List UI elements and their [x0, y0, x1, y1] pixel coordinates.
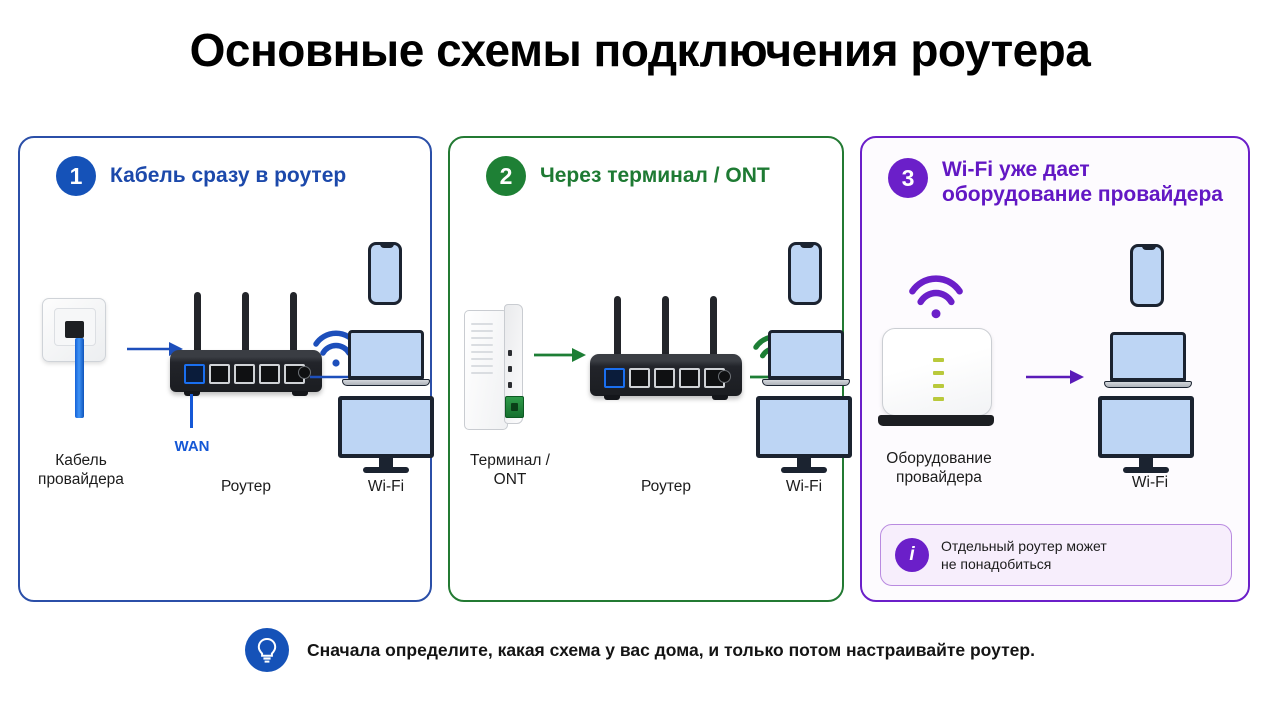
- lightbulb-icon: [245, 628, 289, 672]
- laptop-icon: [1104, 332, 1192, 388]
- footer-tip: Сначала определите, какая схема у вас до…: [0, 628, 1280, 672]
- tv-monitor-icon: [1098, 396, 1194, 473]
- laptop-icon: [342, 330, 430, 386]
- panel-3-source-label: Оборудование провайдера: [864, 450, 1014, 488]
- info-icon: i: [895, 538, 929, 572]
- page-title: Основные схемы подключения роутера: [0, 0, 1280, 73]
- router-icon: [590, 296, 742, 400]
- panel-3-scene: Оборудование провайдера Wi-Fi i Отдельны…: [862, 138, 1248, 600]
- panel-3-wifi-label: Wi-Fi: [1100, 474, 1200, 493]
- panel-2-source-label: Терминал / ONT: [450, 452, 570, 490]
- wan-pointer: [190, 394, 193, 428]
- footer-text: Сначала определите, какая схема у вас до…: [307, 640, 1035, 661]
- smartphone-icon: [368, 242, 402, 305]
- arrow-right-icon: [1024, 366, 1086, 388]
- info-note-text: Отдельный роутер может не понадобиться: [941, 537, 1107, 573]
- info-note: i Отдельный роутер может не понадобиться: [880, 524, 1232, 586]
- smartphone-icon: [788, 242, 822, 305]
- provider-gateway-icon: [878, 328, 994, 426]
- router-icon: [170, 292, 322, 396]
- arrow-right-icon: [532, 344, 588, 366]
- smartphone-icon: [1130, 244, 1164, 307]
- ethernet-cable-icon: [75, 338, 84, 418]
- laptop-icon: [762, 330, 850, 386]
- tv-monitor-icon: [756, 396, 852, 473]
- scheme-panel-2: 2 Через терминал / ONT: [448, 136, 844, 602]
- wan-port: [184, 364, 205, 384]
- panel-1-wifi-label: Wi-Fi: [336, 478, 436, 497]
- panel-2-scene: Терминал / ONT Роутер Wi-Fi: [450, 138, 842, 600]
- wan-port: [604, 368, 625, 388]
- ont-terminal-icon: [464, 304, 522, 432]
- panel-1-scene: Кабель провайдера WAN Роутер Wi-Fi: [20, 138, 430, 600]
- panel-2-wifi-label: Wi-Fi: [754, 478, 854, 497]
- wifi-signal-icon: [904, 270, 968, 322]
- panel-2-router-label: Роутер: [596, 478, 736, 497]
- scheme-panel-3: 3 Wi-Fi уже дает оборудование провайдера: [860, 136, 1250, 602]
- panel-1-source-label: Кабель провайдера: [26, 452, 136, 490]
- tv-monitor-icon: [338, 396, 434, 473]
- panel-1-wan-label: WAN: [152, 438, 232, 456]
- panel-1-router-label: Роутер: [176, 478, 316, 497]
- scheme-panel-1: 1 Кабель сразу в роутер: [18, 136, 432, 602]
- schemes-row: 1 Кабель сразу в роутер: [18, 136, 1262, 602]
- wall-socket-icon: [42, 298, 106, 362]
